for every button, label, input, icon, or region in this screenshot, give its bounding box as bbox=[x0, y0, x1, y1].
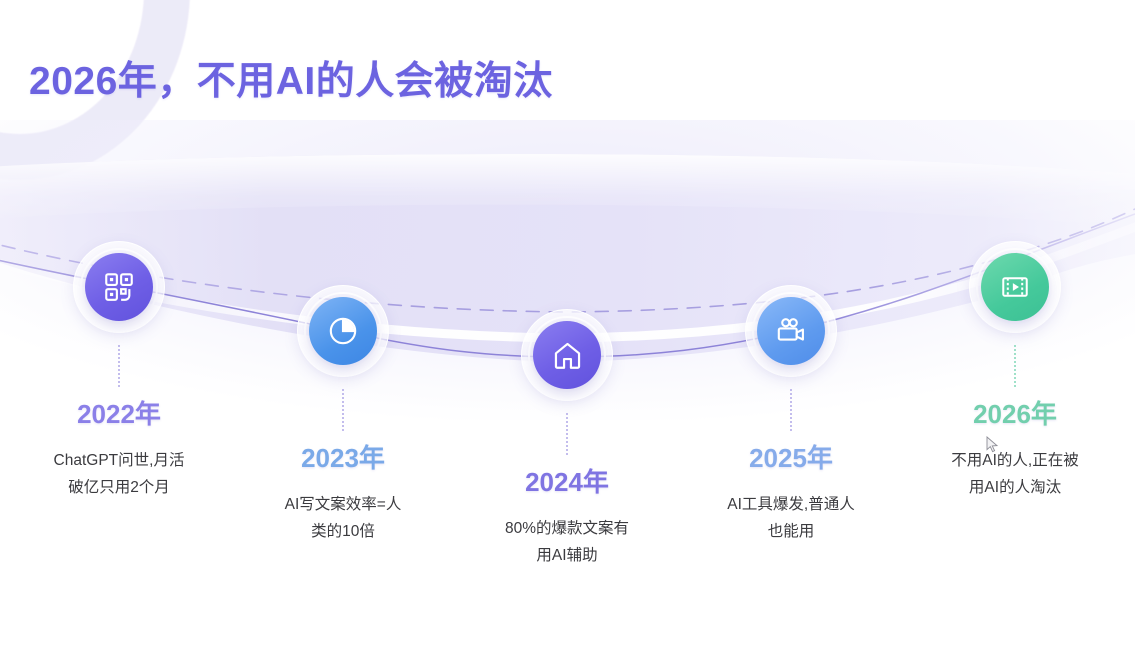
timeline-node-2025[interactable] bbox=[757, 297, 825, 365]
connector-2026 bbox=[1014, 345, 1016, 387]
node-disc bbox=[533, 321, 601, 389]
year-description-2022: ChatGPT问世,月活 破亿只用2个月 bbox=[9, 447, 229, 501]
connector-2025 bbox=[790, 389, 792, 431]
video-camera-icon bbox=[774, 314, 808, 348]
year-label-2025: 2025年 bbox=[691, 438, 891, 475]
year-label-2023: 2023年 bbox=[243, 438, 443, 475]
home-icon bbox=[551, 339, 584, 372]
pie-chart-icon bbox=[326, 314, 360, 348]
slide-canvas: 2026年，不用AI的人会被淘汰 2022年 ChatGPT问世,月活 破亿只用… bbox=[0, 0, 1135, 649]
year-description-2026: 不用AI的人,正在被 用AI的人淘汰 bbox=[907, 447, 1123, 501]
timeline-node-2022[interactable] bbox=[85, 253, 153, 321]
year-label-2022: 2022年 bbox=[19, 394, 219, 431]
year-description-2025: AI工具爆发,普通人 也能用 bbox=[681, 491, 901, 545]
timeline-node-2026[interactable] bbox=[981, 253, 1049, 321]
connector-2023 bbox=[342, 389, 344, 431]
node-disc bbox=[309, 297, 377, 365]
node-disc bbox=[757, 297, 825, 365]
timeline-node-2024[interactable] bbox=[533, 321, 601, 389]
film-play-icon bbox=[999, 271, 1031, 303]
page-title: 2026年，不用AI的人会被淘汰 bbox=[29, 50, 553, 106]
mouse-cursor bbox=[986, 436, 1000, 454]
connector-2022 bbox=[118, 345, 120, 387]
year-description-2024: 80%的爆款文案有 用AI辅助 bbox=[457, 515, 677, 569]
year-label-2024: 2024年 bbox=[467, 462, 667, 499]
connector-2024 bbox=[566, 413, 568, 455]
node-disc bbox=[85, 253, 153, 321]
year-description-2023: AI写文案效率=人 类的10倍 bbox=[233, 491, 453, 545]
node-disc bbox=[981, 253, 1049, 321]
timeline-node-2023[interactable] bbox=[309, 297, 377, 365]
year-label-2026: 2026年 bbox=[915, 394, 1115, 431]
qr-code-icon bbox=[102, 270, 136, 304]
